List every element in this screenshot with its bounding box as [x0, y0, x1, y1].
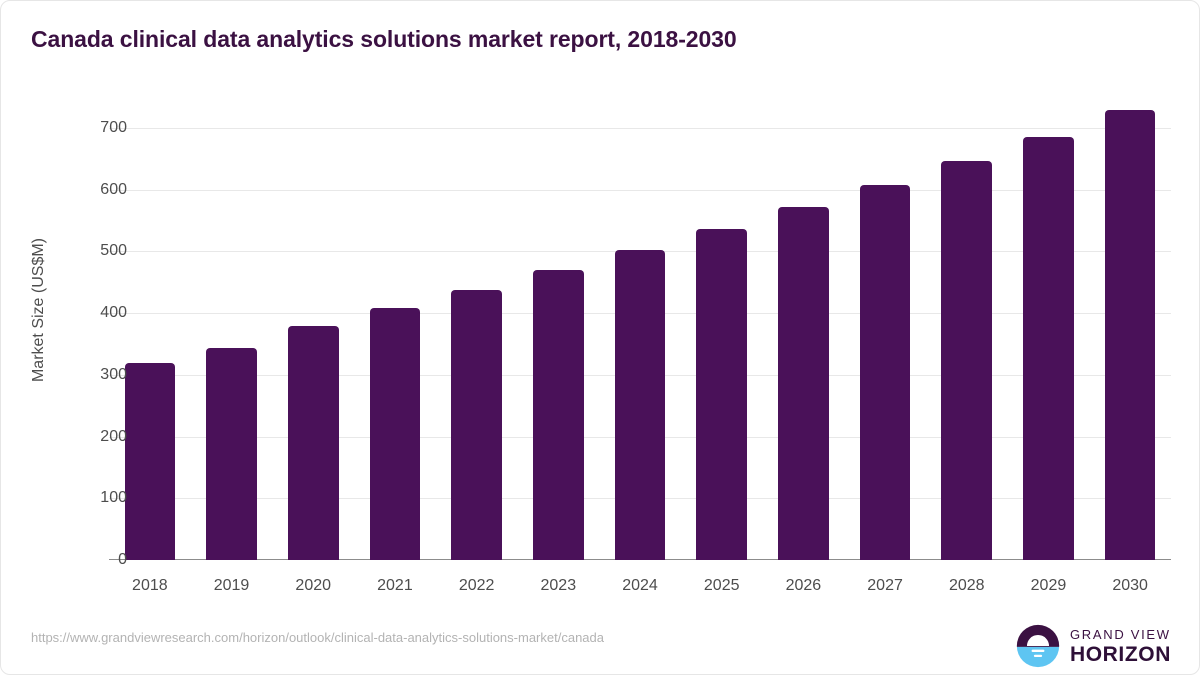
- x-tick-label-2028: 2028: [949, 577, 985, 595]
- y-tick-label: 600: [7, 181, 127, 199]
- bar-2025[interactable]: [696, 229, 747, 560]
- x-tick-label-2030: 2030: [1112, 577, 1148, 595]
- chart-screenshot: Canada clinical data analytics solutions…: [0, 0, 1200, 675]
- y-tick-label: 700: [7, 119, 127, 137]
- y-tick-label: 300: [7, 366, 127, 384]
- bar-2022[interactable]: [451, 290, 502, 560]
- x-tick-label-2019: 2019: [214, 577, 250, 595]
- x-tick-label-2023: 2023: [541, 577, 577, 595]
- bar-2020[interactable]: [288, 326, 339, 560]
- bar-2029[interactable]: [1023, 137, 1074, 560]
- bar-series: [109, 91, 1171, 560]
- y-tick-label: 500: [7, 242, 127, 260]
- y-tick-label: 100: [7, 489, 127, 507]
- chart-canvas: Market Size (US$M) 010020030040050060070…: [1, 1, 1200, 675]
- bar-2026[interactable]: [778, 207, 829, 560]
- source-url[interactable]: https://www.grandviewresearch.com/horizo…: [31, 630, 604, 645]
- logo-wordmark: GRAND VIEW HORIZON: [1070, 628, 1171, 665]
- horizon-circle-icon: [1015, 623, 1061, 669]
- bar-2030[interactable]: [1105, 110, 1156, 560]
- x-tick-label-2021: 2021: [377, 577, 413, 595]
- x-tick-label-2022: 2022: [459, 577, 495, 595]
- y-tick-label: 200: [7, 428, 127, 446]
- x-tick-label-2029: 2029: [1031, 577, 1067, 595]
- x-tick-label-2018: 2018: [132, 577, 168, 595]
- y-tick-label: 0: [7, 551, 127, 569]
- grand-view-horizon-logo: GRAND VIEW HORIZON: [1015, 623, 1171, 669]
- x-tick-label-2020: 2020: [295, 577, 331, 595]
- bar-2028[interactable]: [941, 161, 992, 560]
- logo-line-2: HORIZON: [1070, 644, 1171, 665]
- x-tick-label-2024: 2024: [622, 577, 658, 595]
- bar-2019[interactable]: [206, 348, 257, 560]
- bar-2027[interactable]: [860, 185, 911, 560]
- x-tick-label-2025: 2025: [704, 577, 740, 595]
- logo-line-1: GRAND VIEW: [1070, 628, 1171, 641]
- bar-2024[interactable]: [615, 250, 666, 560]
- x-tick-label-2026: 2026: [786, 577, 822, 595]
- x-tick-label-2027: 2027: [867, 577, 903, 595]
- plot-area: [109, 91, 1171, 560]
- bar-2021[interactable]: [370, 308, 421, 560]
- y-tick-label: 400: [7, 304, 127, 322]
- bar-2018[interactable]: [125, 363, 176, 560]
- bar-2023[interactable]: [533, 270, 584, 560]
